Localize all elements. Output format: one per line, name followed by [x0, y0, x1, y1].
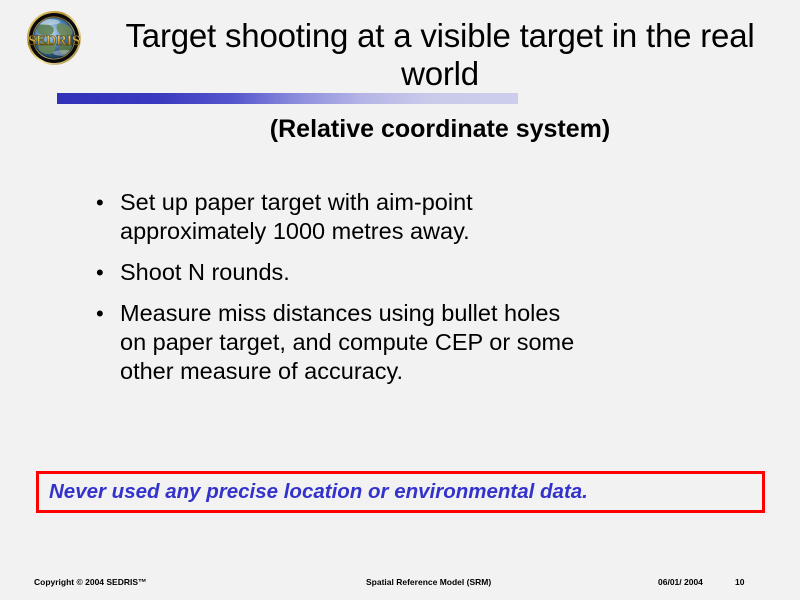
footer-page-number: 10 — [735, 577, 744, 587]
callout-box: Never used any precise location or envir… — [36, 471, 765, 513]
slide-footer: Copyright © 2004 SEDRIS™ Spatial Referen… — [0, 577, 800, 593]
bullet-marker-icon: • — [92, 188, 120, 217]
list-item: • Measure miss distances using bullet ho… — [92, 299, 732, 386]
gradient-divider — [57, 93, 518, 104]
footer-date: 06/01/ 2004 — [658, 577, 703, 587]
bullet-list: • Set up paper target with aim-point app… — [92, 188, 732, 386]
list-item-text: Measure miss distances using bullet hole… — [120, 299, 732, 386]
list-item-text: Set up paper target with aim-point appro… — [120, 188, 732, 246]
bullet-marker-icon: • — [92, 258, 120, 287]
sedris-globe-logo: SEDRIS — [18, 10, 90, 66]
list-item: • Set up paper target with aim-point app… — [92, 188, 732, 246]
slide-canvas: SEDRIS Target shooting at a visible targ… — [0, 0, 800, 600]
page-title: Target shooting at a visible target in t… — [104, 17, 776, 93]
slide-subtitle: (Relative coordinate system) — [104, 115, 776, 144]
sedris-wordmark: SEDRIS — [28, 33, 80, 49]
callout-text: Never used any precise location or envir… — [39, 480, 588, 504]
list-item: • Shoot N rounds. — [92, 258, 732, 287]
list-item-text: Shoot N rounds. — [120, 258, 732, 287]
bullet-marker-icon: • — [92, 299, 120, 328]
footer-document-title: Spatial Reference Model (SRM) — [366, 577, 491, 587]
footer-copyright: Copyright © 2004 SEDRIS™ — [34, 577, 147, 587]
